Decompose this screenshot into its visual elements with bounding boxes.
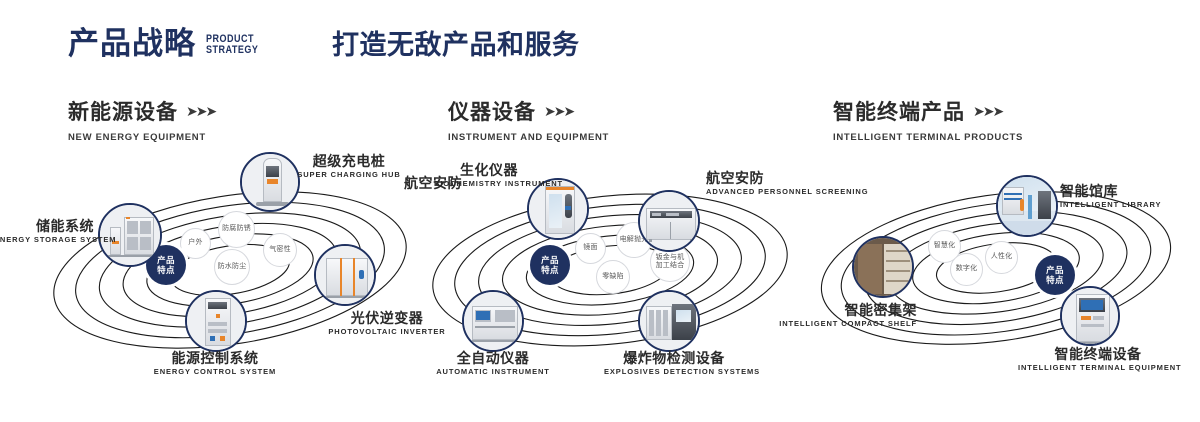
- page-slogan: 打造无敌产品和服务: [332, 32, 580, 59]
- section-heading-en: INTELLIGENT TERMINAL PRODUCTS: [833, 132, 1023, 143]
- product-node-energy-control[interactable]: [185, 290, 247, 352]
- product-label-charging-hub: 超级充电桩 SUPER CHARGING HUB: [284, 153, 414, 179]
- section-heading-en: NEW ENERGY EQUIPMENT: [68, 132, 215, 143]
- page-title-en: PRODUCT STRATEGY: [206, 34, 258, 59]
- explosives-detector-icon: [640, 292, 698, 350]
- control-cabinet-icon: [187, 292, 245, 350]
- product-label-compact-shelf: 智能密集架 INTELLIGENT COMPACT SHELF: [772, 302, 917, 328]
- product-node-compact-shelf[interactable]: [852, 236, 914, 298]
- feature-bubble: 数字化: [950, 253, 983, 286]
- product-node-personnel-screening[interactable]: [638, 190, 700, 252]
- chevron-right-icon: ➤➤➤: [973, 104, 1002, 118]
- compact-shelf-icon: [854, 238, 912, 296]
- section-heading-instrument: 仪器设备 ➤➤➤ INSTRUMENT AND EQUIPMENT: [448, 96, 609, 143]
- product-node-smart-library[interactable]: [996, 175, 1058, 237]
- screening-machine-icon: [640, 192, 698, 250]
- chevron-right-icon: ➤➤➤: [186, 104, 215, 118]
- product-label-terminal-equipment: 智能终端设备 INTELLIGENT TERMINAL EQUIPMENT: [1018, 346, 1178, 372]
- feature-bubble: 防腐防锈: [218, 211, 255, 248]
- chevron-right-icon: ➤➤➤: [544, 104, 573, 118]
- product-label-smart-library: 智能馆库 INTELLIGENT LIBRARY: [1060, 183, 1190, 209]
- feature-bubble: 气密性: [263, 233, 297, 267]
- pv-inverter-cabinet-icon: [316, 246, 374, 304]
- diagram-new-energy: 户外 防腐防锈 气密性 防水防尘 产品 特点: [40, 150, 420, 390]
- product-node-pv-inverter[interactable]: [314, 244, 376, 306]
- section-heading-new-energy: 新能源设备 ➤➤➤ NEW ENERGY EQUIPMENT: [68, 96, 215, 143]
- product-label-energy-control: 能源控制系统 ENERGY CONTROL SYSTEM: [135, 350, 295, 376]
- core-badge-text: 产品 特点: [1046, 265, 1064, 285]
- page-title-en-line1: PRODUCT: [206, 33, 254, 45]
- section-heading-cn: 仪器设备: [448, 96, 536, 126]
- product-node-terminal-equipment[interactable]: [1060, 286, 1120, 346]
- product-label-explosives-detection: 爆炸物检测设备 EXPLOSIVES DETECTION SYSTEMS: [604, 350, 744, 376]
- feature-bubble: 零缺陷: [596, 260, 630, 294]
- self-service-kiosk-icon: [1062, 288, 1118, 344]
- product-node-explosives-detection[interactable]: [638, 290, 700, 352]
- product-label-energy-storage: 储能系统 ENERGY STORAGE SYSTEM: [0, 218, 94, 244]
- diagram-intelligent-terminal: 智慧化 数字化 人性化 产品 特点 智能馆库 INTELLIGE: [810, 150, 1190, 390]
- core-badge-text: 产品 特点: [541, 255, 559, 275]
- feature-bubble: 防水防尘: [214, 249, 250, 285]
- diagram-instrument: 镜面 电解抛光 钣金与机加工结合 零缺陷 产品 特点 生化仪器 BIOCHEMI…: [420, 150, 800, 390]
- page-title-cn: 产品战略: [68, 28, 196, 59]
- product-node-automatic-instrument[interactable]: [462, 290, 524, 352]
- smart-library-icon: [998, 177, 1056, 235]
- core-badge-product-features: 产品 特点: [530, 245, 570, 285]
- automatic-instrument-icon: [464, 292, 522, 350]
- product-strategy-infographic: 产品战略 PRODUCT STRATEGY 打造无敌产品和服务 新能源设备 ➤➤…: [0, 0, 1200, 422]
- feature-bubble: 人性化: [985, 241, 1018, 274]
- product-label-automatic-instrument: 全自动仪器 AUTOMATIC INSTRUMENT: [428, 350, 558, 376]
- section-heading-cn: 新能源设备: [68, 96, 178, 126]
- product-label-aviation-security: 航空安防: [404, 175, 494, 191]
- section-heading-intelligent-terminal: 智能终端产品 ➤➤➤ INTELLIGENT TERMINAL PRODUCTS: [833, 96, 1023, 143]
- biochemistry-analyzer-icon: [529, 180, 587, 238]
- feature-bubble: 户外: [180, 228, 211, 259]
- page-title: 产品战略 PRODUCT STRATEGY: [68, 28, 270, 59]
- page-title-en-line2: STRATEGY: [206, 44, 258, 56]
- section-heading-en: INSTRUMENT AND EQUIPMENT: [448, 132, 609, 143]
- section-heading-cn: 智能终端产品: [833, 96, 965, 126]
